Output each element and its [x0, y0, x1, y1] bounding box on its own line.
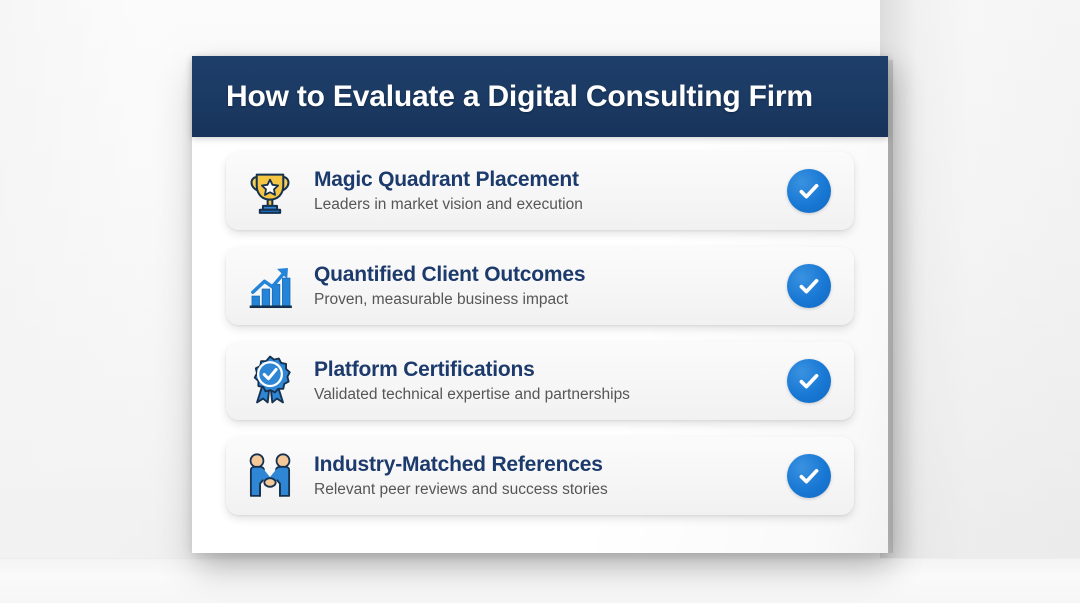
poster-side-edge [888, 60, 893, 553]
check-circle-icon [787, 169, 831, 213]
poster-board: How to Evaluate a Digital Consulting Fir… [192, 56, 888, 553]
check-circle-icon [787, 454, 831, 498]
list-item-subtitle: Proven, measurable business impact [314, 289, 774, 310]
list-item[interactable]: Magic Quadrant Placement Leaders in mark… [226, 152, 854, 230]
status-badge[interactable] [786, 168, 832, 214]
status-badge[interactable] [786, 358, 832, 404]
list-item-title: Platform Certifications [314, 357, 774, 382]
page-title: How to Evaluate a Digital Consulting Fir… [226, 80, 813, 114]
list-item[interactable]: Quantified Client Outcomes Proven, measu… [226, 247, 854, 325]
criteria-list: Magic Quadrant Placement Leaders in mark… [192, 137, 888, 515]
backdrop-right-shading [880, 0, 1080, 603]
status-badge[interactable] [786, 453, 832, 499]
list-item-title: Industry-Matched References [314, 452, 774, 477]
list-item[interactable]: Platform Certifications Validated techni… [226, 342, 854, 420]
list-item-text: Magic Quadrant Placement Leaders in mark… [314, 167, 774, 215]
list-item-title: Magic Quadrant Placement [314, 167, 774, 192]
list-item-subtitle: Leaders in market vision and execution [314, 194, 774, 215]
list-item-subtitle: Validated technical expertise and partne… [314, 384, 774, 405]
list-item-text: Industry-Matched References Relevant pee… [314, 452, 774, 500]
certification-badge-icon [242, 351, 298, 411]
list-item-text: Platform Certifications Validated techni… [314, 357, 774, 405]
list-item-title: Quantified Client Outcomes [314, 262, 774, 287]
scene: How to Evaluate a Digital Consulting Fir… [0, 0, 1080, 603]
list-item[interactable]: Industry-Matched References Relevant pee… [226, 437, 854, 515]
status-badge[interactable] [786, 263, 832, 309]
list-item-text: Quantified Client Outcomes Proven, measu… [314, 262, 774, 310]
list-item-subtitle: Relevant peer reviews and success storie… [314, 479, 774, 500]
header-banner: How to Evaluate a Digital Consulting Fir… [192, 56, 888, 137]
trophy-icon [242, 161, 298, 221]
backdrop-floor [0, 558, 1080, 603]
growth-chart-icon [242, 256, 298, 316]
check-circle-icon [787, 264, 831, 308]
check-circle-icon [787, 359, 831, 403]
handshake-icon [242, 446, 298, 506]
